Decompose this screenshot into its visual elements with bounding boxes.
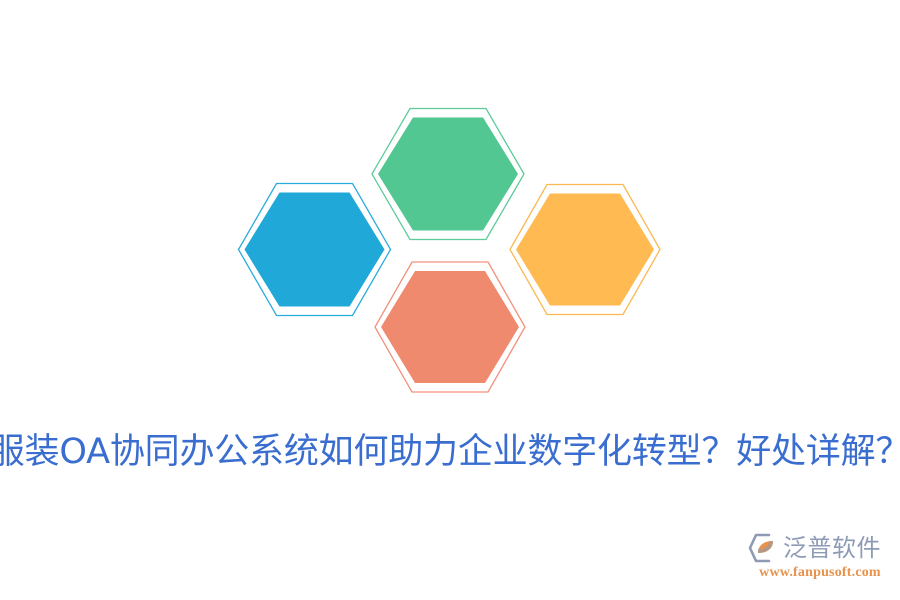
- hex-orange-fill: [516, 194, 654, 306]
- headline-banner: 服装OA协同办公系统如何助力企业数字化转型？好处详解？: [0, 424, 900, 480]
- hex-blue-fill: [245, 193, 385, 307]
- hexagon-swoosh-logo-icon: [748, 532, 780, 564]
- hex-green: [372, 109, 524, 240]
- page-canvas: 服装OA协同办公系统如何助力企业数字化转型？好处详解？ 泛普软件 www.fan…: [0, 0, 900, 600]
- hexagon-cluster-graphic: [0, 0, 900, 420]
- hex-salmon-fill: [381, 271, 519, 383]
- logo-company-name: 泛普软件: [783, 536, 881, 560]
- brand-logo[interactable]: 泛普软件 www.fanpusoft.com: [748, 532, 888, 588]
- hex-orange: [510, 185, 660, 315]
- hex-salmon: [375, 262, 525, 392]
- hexagon-cluster-svg: [0, 0, 900, 420]
- headline-title: 服装OA协同办公系统如何助力企业数字化转型？好处详解？: [0, 435, 900, 470]
- logo-row: 泛普软件: [748, 532, 881, 564]
- logo-website-url: www.fanpusoft.com: [752, 566, 888, 580]
- hex-blue: [239, 184, 391, 316]
- hex-green-fill: [378, 118, 518, 231]
